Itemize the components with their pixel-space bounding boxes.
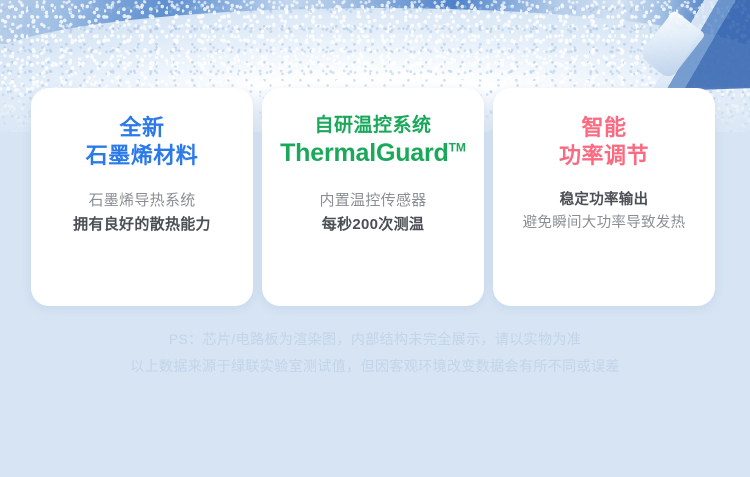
card-title-line-1: 智能	[559, 114, 649, 142]
brand-name: ThermalGuard	[280, 139, 448, 167]
promo-page: 全新 石墨烯材料 石墨烯导热系统 拥有良好的散热能力 自研温控系统 Therma…	[0, 0, 750, 477]
card-subtitle: 内置温控传感器 每秒200次测温	[319, 189, 426, 236]
feature-card-graphene-material: 全新 石墨烯材料 石墨烯导热系统 拥有良好的散热能力	[31, 88, 253, 306]
trademark-symbol: TM	[449, 141, 466, 155]
card-title-line-1: 全新	[86, 114, 199, 142]
card-title: 智能 功率调节	[559, 114, 649, 169]
card-sub-line-1: 石墨烯导热系统	[73, 189, 211, 212]
card-title-line-2: ThermalGuardTM	[280, 138, 466, 170]
card-sub-line-2: 拥有良好的散热能力	[73, 213, 211, 236]
card-sub-line-2: 每秒200次测温	[319, 213, 426, 236]
card-sub-line-1: 内置温控传感器	[319, 189, 426, 212]
card-title-line-1: 自研温控系统	[280, 114, 466, 138]
feature-card-row: 全新 石墨烯材料 石墨烯导热系统 拥有良好的散热能力 自研温控系统 Therma…	[31, 88, 715, 306]
card-subtitle: 石墨烯导热系统 拥有良好的散热能力	[73, 189, 211, 236]
disclaimer-line-2: 以上数据来源于绿联实验室测试值，但因客观环境改变数据会有所不同或误差	[0, 353, 750, 380]
feature-card-smart-power: 智能 功率调节 稳定功率输出 避免瞬间大功率导致发热	[493, 88, 715, 306]
card-title: 自研温控系统 ThermalGuardTM	[280, 114, 466, 169]
card-sub-line-1: 稳定功率输出	[523, 189, 686, 211]
disclaimer-line-1: PS：芯片/电路板为渲染图，内部结构未完全展示，请以实物为准	[0, 326, 750, 353]
disclaimer-footer: PS：芯片/电路板为渲染图，内部结构未完全展示，请以实物为准 以上数据来源于绿联…	[0, 326, 750, 381]
card-title-line-2: 石墨烯材料	[86, 142, 199, 170]
card-sub-line-2: 避免瞬间大功率导致发热	[523, 212, 686, 234]
card-title-line-2: 功率调节	[559, 142, 649, 170]
card-subtitle: 稳定功率输出 避免瞬间大功率导致发热	[523, 189, 686, 234]
feature-card-thermal-guard: 自研温控系统 ThermalGuardTM 内置温控传感器 每秒200次测温	[262, 88, 484, 306]
card-title: 全新 石墨烯材料	[86, 114, 199, 169]
